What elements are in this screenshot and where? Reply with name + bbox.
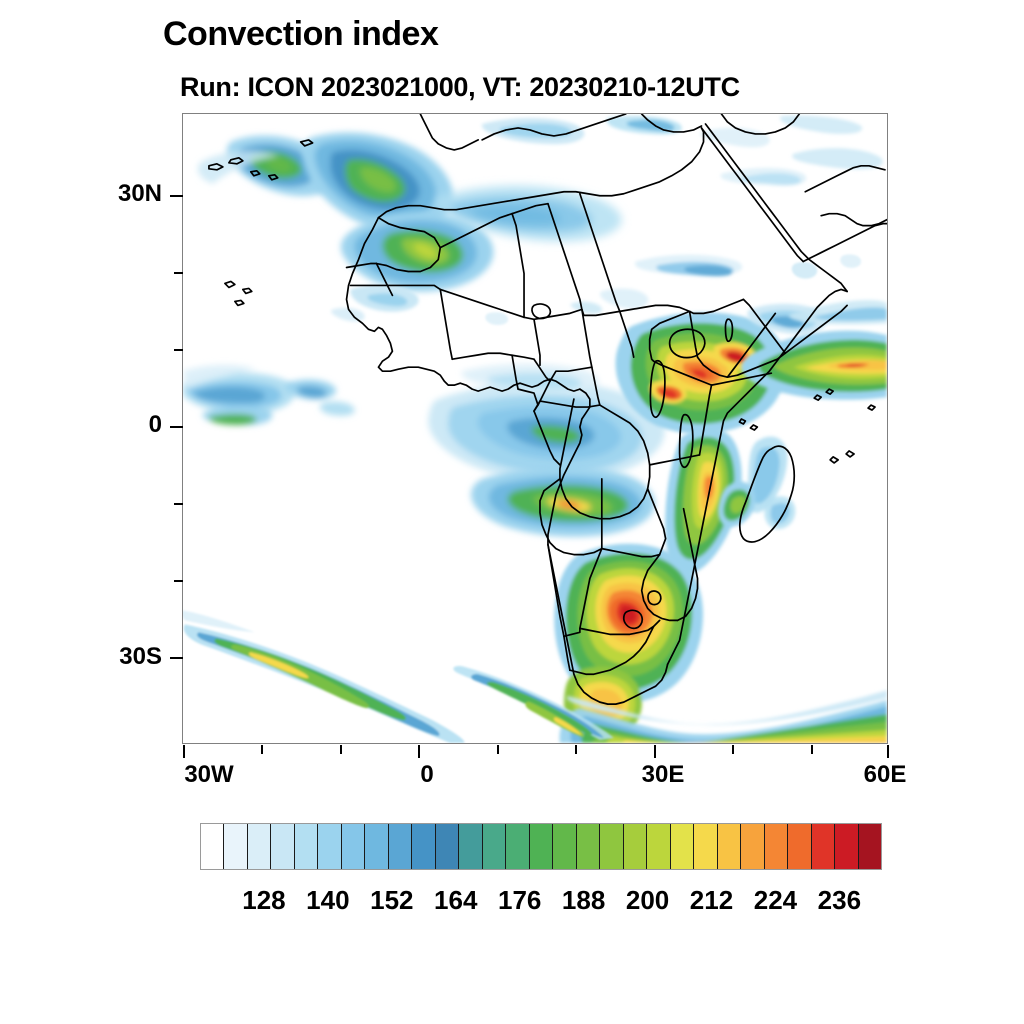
run-valid-time-subtitle: Run: ICON 2023021000, VT: 20230210-12UTC bbox=[180, 72, 740, 102]
coastline-borders-overlay bbox=[183, 114, 887, 743]
colorbar-cell-24 bbox=[765, 824, 788, 869]
colorbar-tick-label-200: 200 bbox=[626, 885, 669, 916]
colorbar-cell-8 bbox=[389, 824, 412, 869]
x-tick-30e bbox=[654, 745, 656, 758]
y-tick-0 bbox=[170, 426, 183, 428]
colorbar-cell-18 bbox=[624, 824, 647, 869]
weather-map-figure: Convection index Run: ICON 2023021000, V… bbox=[0, 0, 1024, 1024]
x-tick-60e bbox=[887, 745, 889, 758]
colorbar-cell-10 bbox=[436, 824, 459, 869]
colorbar-cell-12 bbox=[483, 824, 506, 869]
x-tick-0 bbox=[418, 745, 420, 758]
colorbar-tick-label-140: 140 bbox=[306, 885, 349, 916]
colorbar-cell-14 bbox=[530, 824, 553, 869]
colorbar-cell-7 bbox=[365, 824, 388, 869]
colorbar-cell-16 bbox=[577, 824, 600, 869]
x-tick-50e bbox=[811, 745, 813, 754]
colorbar-cell-15 bbox=[553, 824, 576, 869]
colorbar-tick-label-128: 128 bbox=[242, 885, 285, 916]
colorbar-tick-label-212: 212 bbox=[690, 885, 733, 916]
colorbar-cell-6 bbox=[342, 824, 365, 869]
colorbar-tick-label-224: 224 bbox=[754, 885, 797, 916]
colorbar-cell-11 bbox=[459, 824, 482, 869]
x-axis-label-30e: 30E bbox=[642, 761, 685, 789]
y-tick-10n bbox=[174, 349, 183, 351]
y-axis-label-0: 0 bbox=[98, 411, 162, 439]
colorbar-cell-4 bbox=[295, 824, 318, 869]
colorbar-cell-9 bbox=[412, 824, 435, 869]
colorbar-cell-21 bbox=[694, 824, 717, 869]
y-tick-20s bbox=[174, 580, 183, 582]
colorbar-cell-2 bbox=[248, 824, 271, 869]
colorbar-cell-5 bbox=[318, 824, 341, 869]
y-tick-30s bbox=[170, 657, 183, 659]
colorbar-tick-label-164: 164 bbox=[434, 885, 477, 916]
x-axis-label-60e: 60E bbox=[864, 761, 907, 789]
x-tick-30w bbox=[183, 745, 185, 758]
colorbar-cell-27 bbox=[835, 824, 858, 869]
y-tick-20n bbox=[174, 272, 183, 274]
colorbar-cell-17 bbox=[600, 824, 623, 869]
x-axis-label-0: 0 bbox=[420, 761, 433, 789]
colorbar-cells[interactable] bbox=[200, 823, 882, 870]
y-axis-label-30s: 30S bbox=[98, 643, 162, 671]
colorbar-cell-23 bbox=[741, 824, 764, 869]
colorbar-cell-19 bbox=[647, 824, 670, 869]
colorbar-tick-label-152: 152 bbox=[370, 885, 413, 916]
y-tick-30n bbox=[170, 195, 183, 197]
x-tick-20w bbox=[261, 745, 263, 754]
map-clip-region bbox=[183, 114, 887, 743]
x-tick-10e bbox=[497, 745, 499, 754]
colorbar-tick-label-176: 176 bbox=[498, 885, 541, 916]
x-tick-40e bbox=[732, 745, 734, 754]
colorbar-cell-0 bbox=[201, 824, 224, 869]
colorbar-cell-13 bbox=[506, 824, 529, 869]
x-axis-label-30w: 30W bbox=[184, 761, 233, 789]
colorbar[interactable] bbox=[200, 823, 882, 870]
colorbar-cell-25 bbox=[788, 824, 811, 869]
page-title: Convection index bbox=[163, 16, 438, 52]
y-tick-10s bbox=[174, 503, 183, 505]
colorbar-cell-1 bbox=[224, 824, 247, 869]
x-tick-20e bbox=[575, 745, 577, 754]
colorbar-cell-3 bbox=[271, 824, 294, 869]
colorbar-cell-20 bbox=[671, 824, 694, 869]
colorbar-tick-label-188: 188 bbox=[562, 885, 605, 916]
x-tick-10w bbox=[340, 745, 342, 754]
colorbar-cell-28 bbox=[859, 824, 881, 869]
colorbar-cell-22 bbox=[718, 824, 741, 869]
map-plot-panel[interactable] bbox=[182, 113, 888, 744]
y-axis-label-30n: 30N bbox=[98, 180, 162, 208]
colorbar-tick-label-236: 236 bbox=[818, 885, 861, 916]
colorbar-cell-26 bbox=[812, 824, 835, 869]
